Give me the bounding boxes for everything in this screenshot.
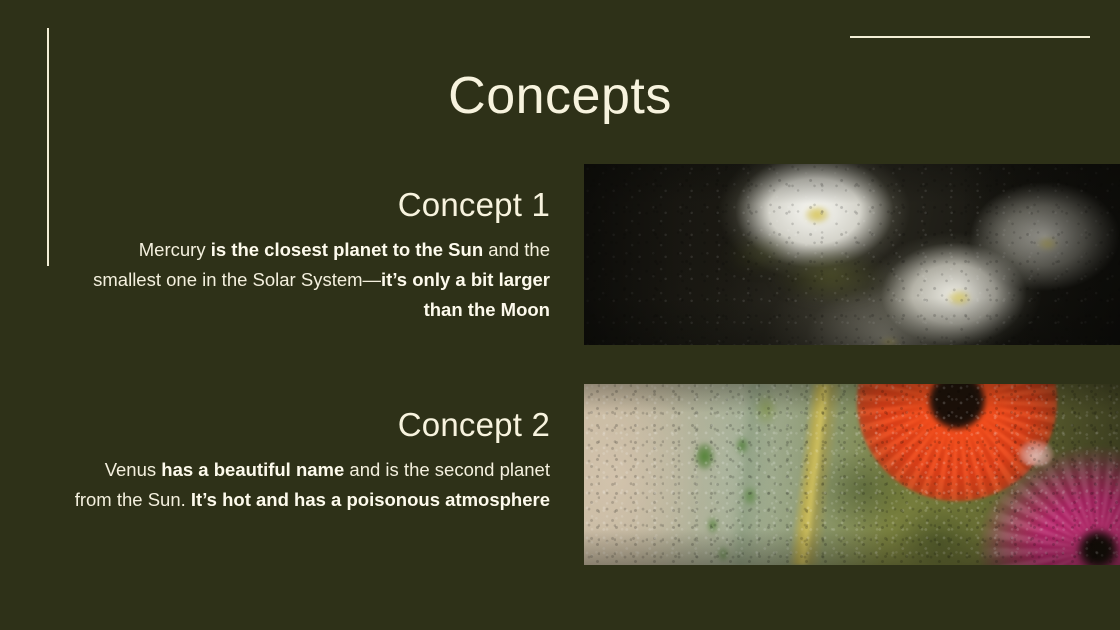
concept-2-heading: Concept 2 [70, 406, 550, 445]
concept-1-heading: Concept 1 [70, 186, 550, 225]
concept-1-body: Mercury is the closest planet to the Sun… [70, 235, 550, 325]
concept-block-1: Concept 1 Mercury is the closest planet … [70, 186, 550, 325]
photo-vignette [584, 384, 1120, 565]
page-title: Concepts [0, 68, 1120, 125]
left-vertical-accent-rule [47, 28, 49, 266]
concept-block-2: Concept 2 Venus has a beautiful name and… [70, 406, 550, 515]
photo-vignette [584, 164, 1120, 345]
concept-1-image [584, 164, 1120, 345]
presentation-slide: Concepts Concept 1 Mercury is the closes… [0, 0, 1120, 630]
top-right-accent-rule [850, 36, 1090, 38]
concept-2-image [584, 384, 1120, 565]
concept-2-body: Venus has a beautiful name and is the se… [70, 455, 550, 515]
